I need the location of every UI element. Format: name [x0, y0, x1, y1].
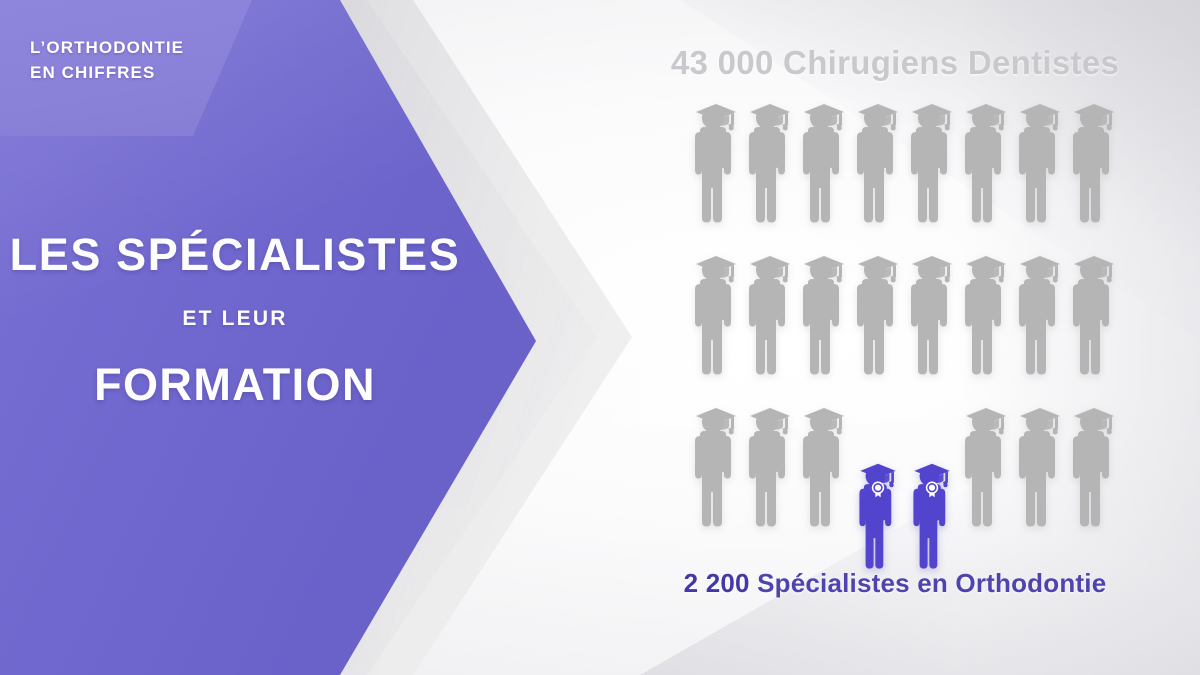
header-title-line2: EN CHIFFRES	[30, 61, 260, 86]
pictogram-figure-grey	[960, 100, 1012, 226]
person-graduate-icon	[744, 252, 796, 378]
person-graduate-icon	[960, 404, 1012, 530]
infographic-slide: L’ORTHODONTIE EN CHIFFRES LES SPÉCIALIST…	[0, 0, 1200, 675]
pictogram-figure-grey	[798, 252, 850, 378]
header-title: L’ORTHODONTIE EN CHIFFRES	[30, 36, 260, 85]
pictogram-grid	[690, 100, 1110, 550]
person-graduate-icon	[744, 100, 796, 226]
person-graduate-icon	[1014, 252, 1066, 378]
person-graduate-icon	[960, 100, 1012, 226]
chart-footer-number: 2 200	[684, 568, 750, 598]
person-graduate-icon	[798, 100, 850, 226]
chart-footer: 2 200 Spécialistes en Orthodontie	[656, 568, 1134, 599]
pictogram-figure-highlight	[855, 460, 901, 572]
page-subtitle: FORMATION	[0, 359, 470, 411]
person-graduate-icon	[852, 252, 904, 378]
pictogram-figure-grey	[906, 100, 958, 226]
person-graduate-award-icon	[855, 460, 901, 572]
pictogram-figure-grey	[1068, 252, 1120, 378]
page-title-connector: ET LEUR	[0, 307, 470, 331]
pictogram-figure-grey	[852, 252, 904, 378]
person-graduate-icon	[1014, 404, 1066, 530]
person-graduate-icon	[690, 404, 742, 530]
pictogram-chart: 43 000 Chirugiens Dentistes	[660, 28, 1130, 628]
person-graduate-icon	[798, 404, 850, 530]
pictogram-row	[690, 100, 1110, 235]
person-graduate-icon	[1068, 100, 1120, 226]
pictogram-figure-grey	[960, 404, 1012, 530]
person-graduate-icon	[960, 252, 1012, 378]
person-graduate-icon	[906, 100, 958, 226]
pictogram-figure-grey	[906, 252, 958, 378]
pictogram-figure-grey	[1014, 252, 1066, 378]
person-graduate-icon	[798, 252, 850, 378]
pictogram-figure-grey	[852, 100, 904, 226]
pictogram-figure-grey	[960, 252, 1012, 378]
pictogram-figure-grey	[744, 252, 796, 378]
person-graduate-icon	[906, 252, 958, 378]
pictogram-figure-grey	[690, 404, 742, 530]
pictogram-figure-grey	[1068, 100, 1120, 226]
pictogram-figure-grey	[690, 252, 742, 378]
chart-title: 43 000 Chirugiens Dentistes	[660, 44, 1130, 82]
person-graduate-icon	[744, 404, 796, 530]
pictogram-figure-grey	[1014, 404, 1066, 530]
person-graduate-icon	[852, 100, 904, 226]
pictogram-row	[690, 404, 1110, 539]
pictogram-figure-grey	[744, 404, 796, 530]
pictogram-row	[690, 252, 1110, 387]
person-graduate-award-icon	[909, 460, 955, 572]
person-graduate-icon	[690, 100, 742, 226]
title-block: LES SPÉCIALISTES ET LEUR FORMATION	[0, 232, 470, 411]
pictogram-figure-grey	[690, 100, 742, 226]
person-graduate-icon	[1068, 252, 1120, 378]
pictogram-figure-grey	[798, 100, 850, 226]
pictogram-figure-grey	[1068, 404, 1120, 530]
header-title-line1: L’ORTHODONTIE	[30, 38, 184, 57]
pictogram-figure-grey	[744, 100, 796, 226]
pictogram-figure-grey	[798, 404, 850, 530]
person-graduate-icon	[1014, 100, 1066, 226]
pictogram-figure-highlight	[909, 460, 955, 572]
page-title: LES SPÉCIALISTES	[0, 232, 470, 277]
person-graduate-icon	[1068, 404, 1120, 530]
pictogram-figure-grey	[1014, 100, 1066, 226]
chart-footer-label: Spécialistes en Orthodontie	[750, 568, 1107, 598]
person-graduate-icon	[690, 252, 742, 378]
